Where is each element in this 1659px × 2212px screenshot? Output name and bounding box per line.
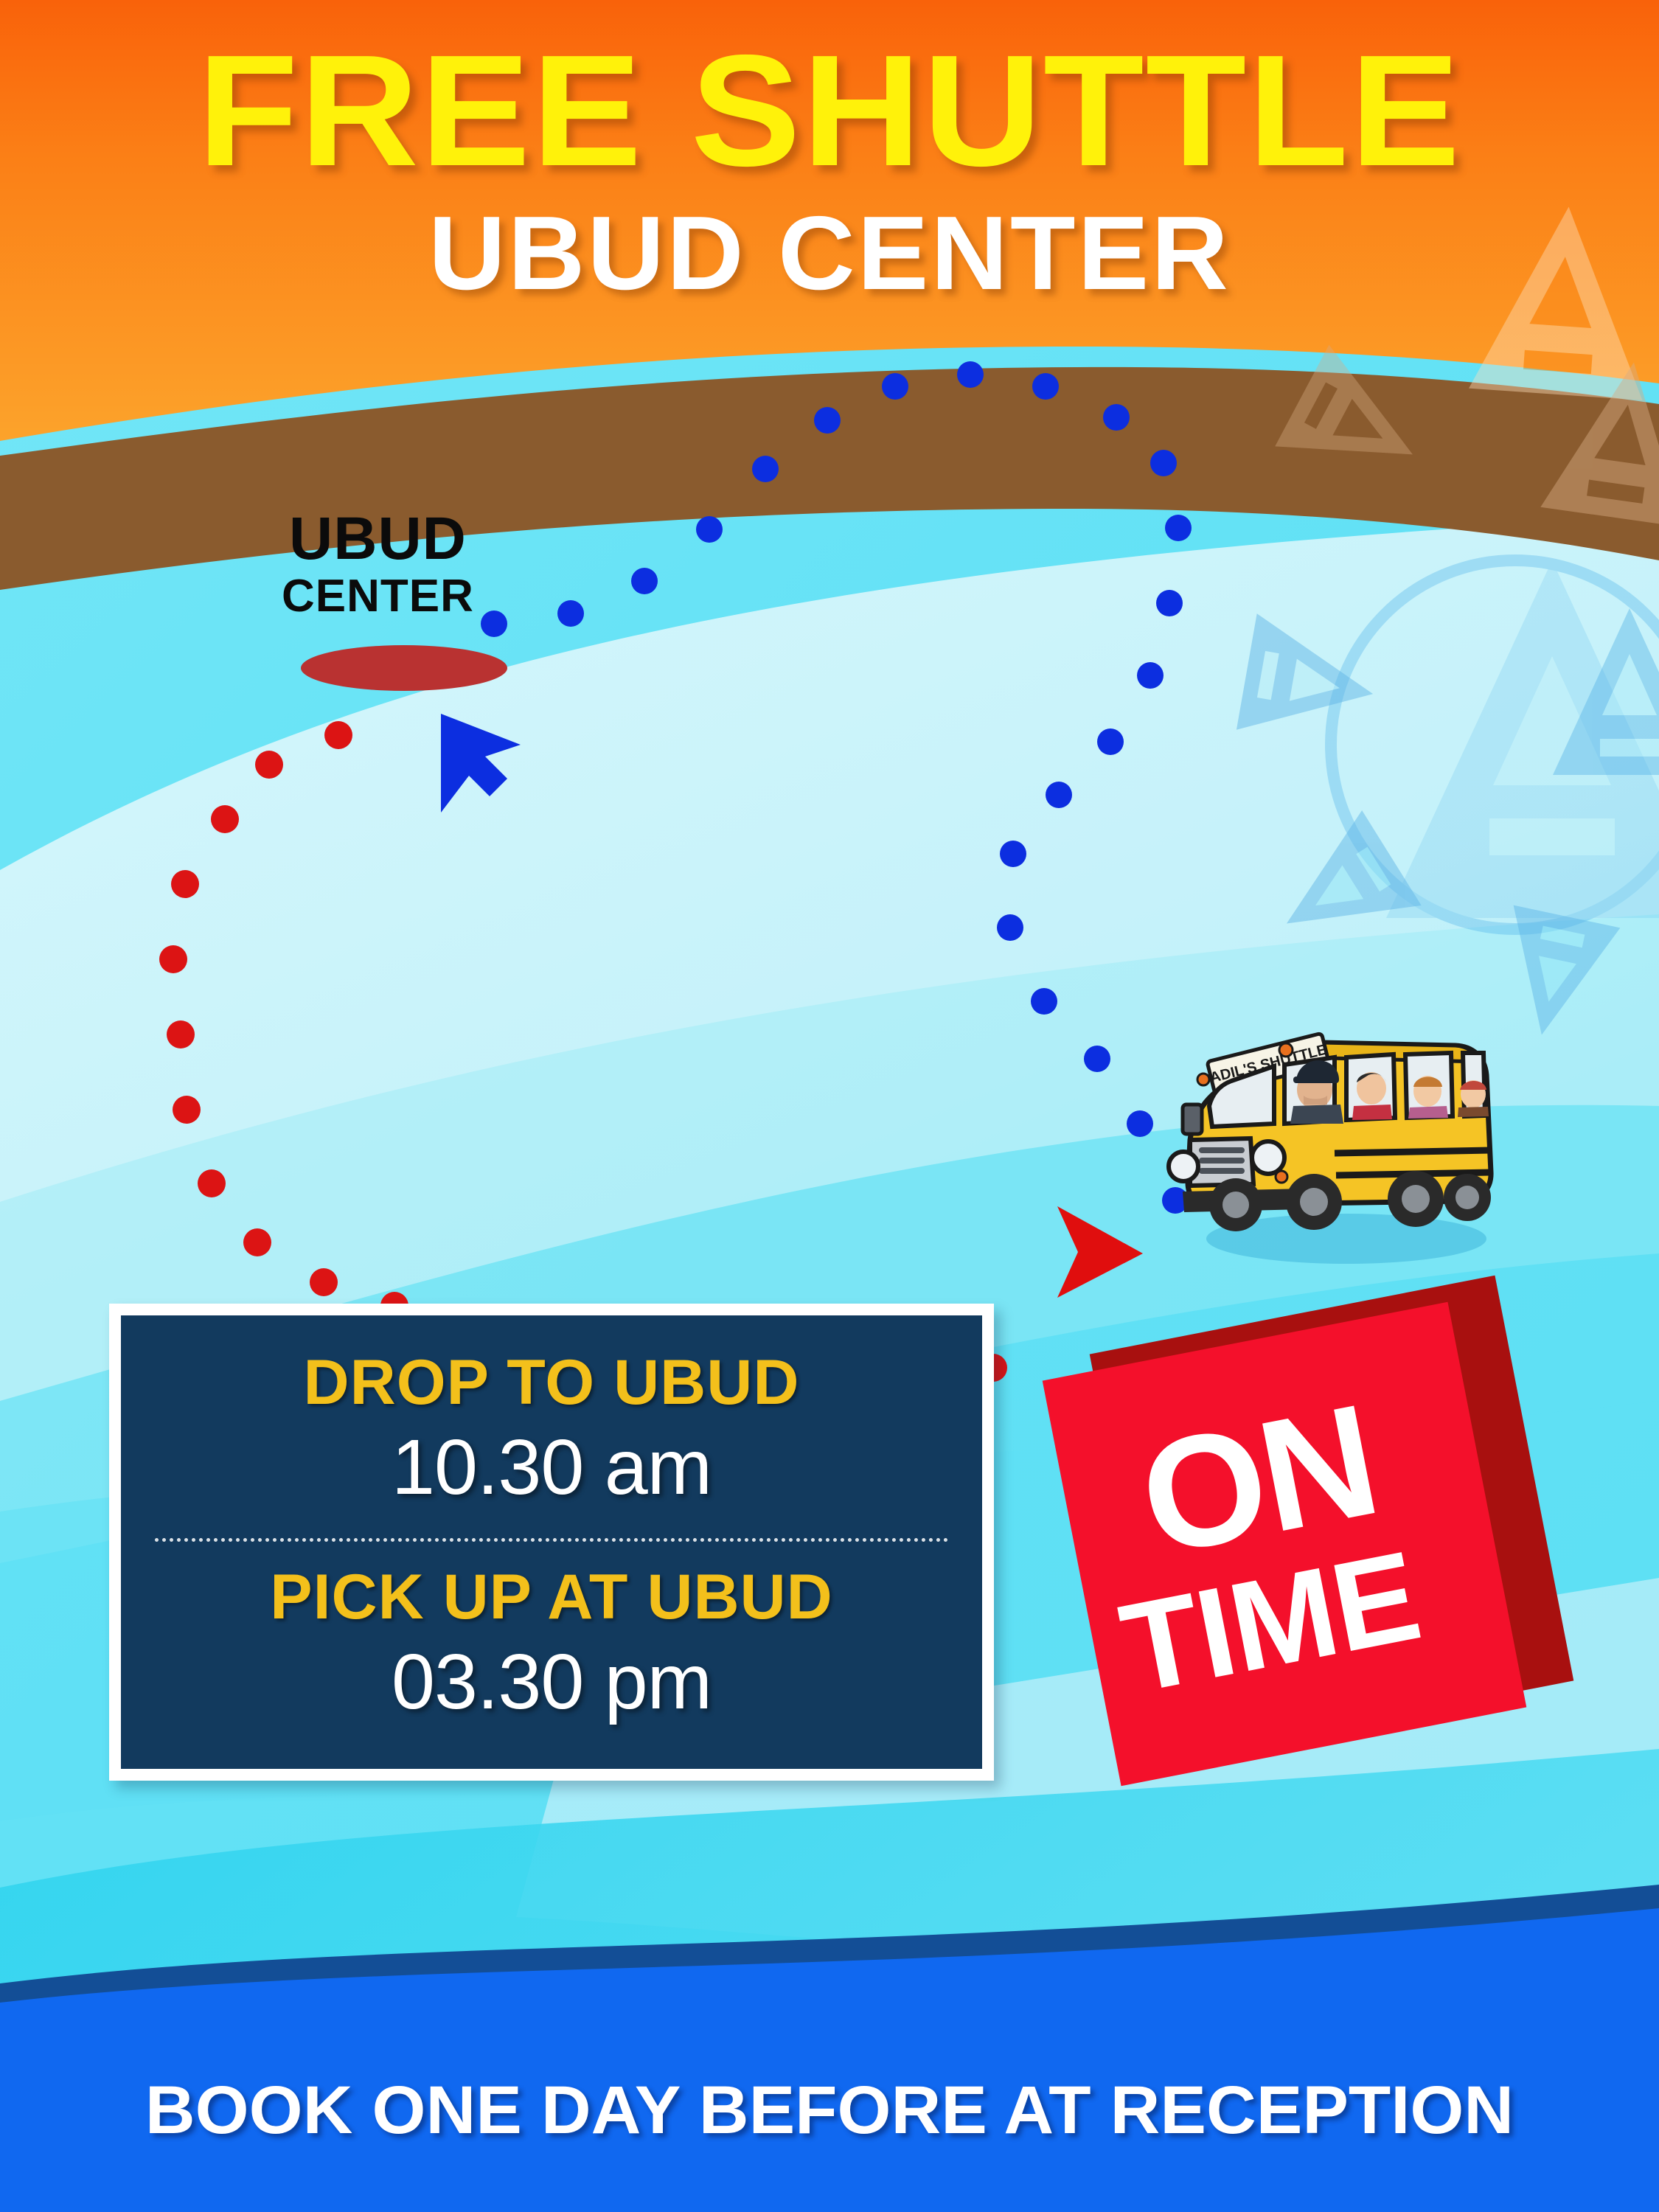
poster-canvas: FREE SHUTTLE UBUD CENTER UBUD CENTER bbox=[0, 0, 1659, 2212]
destination-label-line1: UBUD bbox=[282, 509, 474, 569]
footer-instruction: BOOK ONE DAY BEFORE AT RECEPTION bbox=[0, 2072, 1659, 2149]
schedule-divider bbox=[155, 1538, 948, 1542]
schedule-row-0-heading: DROP TO UBUD bbox=[150, 1349, 953, 1416]
page-subtitle: UBUD CENTER bbox=[0, 201, 1659, 306]
destination-marker-icon bbox=[301, 645, 507, 691]
destination-label: UBUD CENTER bbox=[282, 509, 474, 619]
schedule-row-0-time: 10.30 am bbox=[150, 1423, 953, 1513]
poster-header: FREE SHUTTLE UBUD CENTER bbox=[0, 0, 1659, 306]
destination-label-line2: CENTER bbox=[282, 574, 474, 619]
schedule-row-1-heading: PICK UP AT UBUD bbox=[150, 1564, 953, 1630]
schedule-row-1-time: 03.30 pm bbox=[150, 1638, 953, 1728]
shuttle-bus-illustration: ADIL'S SHUTTLE bbox=[1164, 1009, 1510, 1274]
page-title: FREE SHUTTLE bbox=[0, 31, 1659, 189]
schedule-inner: DROP TO UBUD 10.30 am PICK UP AT UBUD 03… bbox=[121, 1315, 982, 1769]
schedule-box: DROP TO UBUD 10.30 am PICK UP AT UBUD 03… bbox=[109, 1304, 994, 1781]
